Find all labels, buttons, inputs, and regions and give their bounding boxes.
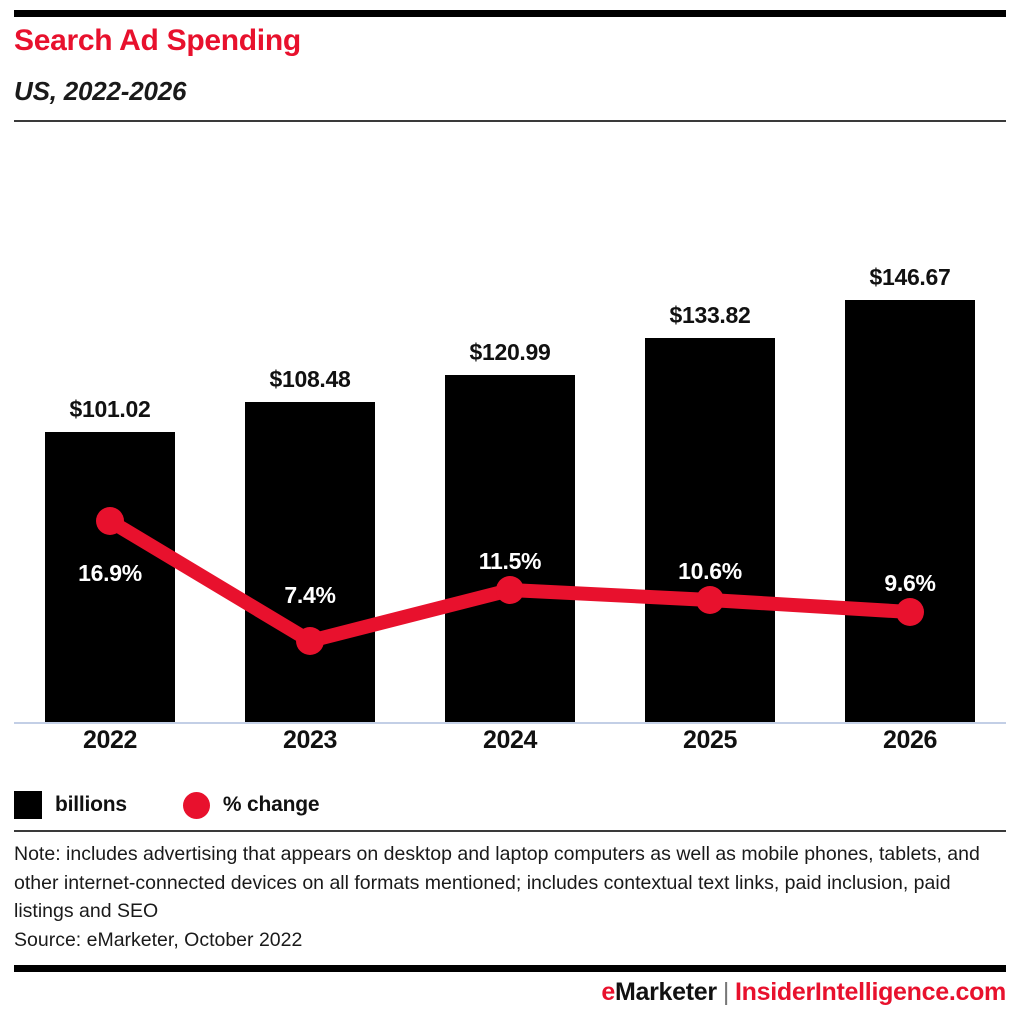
line-marker-2025	[696, 586, 724, 614]
x-tick-2026: 2026	[800, 726, 1020, 755]
bar-value-label-2023: $108.48	[200, 368, 420, 391]
legend-square-icon	[14, 791, 42, 819]
brand-e: e	[601, 978, 615, 1006]
percent-change-label-2025: 10.6%	[600, 560, 820, 583]
footer-rule	[14, 965, 1006, 972]
brand-marketer: Marketer	[615, 978, 717, 1006]
percent-change-label-2024: 11.5%	[400, 550, 620, 573]
source-text: Source: eMarketer, October 2022	[14, 926, 982, 955]
bar-value-label-2022: $101.02	[0, 398, 220, 421]
line-marker-2022	[96, 507, 124, 535]
chart-notes: Note: includes advertising that appears …	[14, 840, 982, 955]
percent-change-label-2022: 16.9%	[0, 562, 220, 585]
note-divider	[14, 830, 1006, 832]
x-tick-2025: 2025	[600, 726, 820, 755]
note-text: Note: includes advertising that appears …	[14, 843, 980, 922]
brand-site: InsiderIntelligence.com	[735, 978, 1006, 1006]
brand-logo: eMarketer|InsiderIntelligence.com	[601, 978, 1006, 1007]
bar-value-label-2026: $146.67	[800, 266, 1020, 289]
bar-value-label-2024: $120.99	[400, 341, 620, 364]
page-title: Search Ad Spending	[14, 26, 301, 56]
x-tick-2024: 2024	[400, 726, 620, 755]
legend-item-billions: billions	[14, 791, 127, 819]
x-axis-ticks: 20222023202420252026	[0, 726, 1020, 766]
header-divider	[14, 120, 1006, 122]
legend-item-change: % change	[183, 792, 319, 819]
legend-circle-icon	[183, 792, 210, 819]
chart-plot-area: $101.02$108.48$120.99$133.82$146.67 16.9…	[0, 130, 1020, 726]
page-subtitle: US, 2022-2026	[14, 78, 186, 104]
legend-label: % change	[223, 793, 319, 817]
chart-legend: billions% change	[14, 788, 319, 822]
x-tick-2022: 2022	[0, 726, 220, 755]
line-marker-2026	[896, 598, 924, 626]
percent-change-line-layer	[0, 130, 1020, 726]
percent-change-label-2023: 7.4%	[200, 584, 420, 607]
line-marker-2023	[296, 627, 324, 655]
bar-value-label-2025: $133.82	[600, 304, 820, 327]
brand-separator: |	[723, 978, 729, 1006]
infographic-page: Search Ad Spending US, 2022-2026 $101.02…	[0, 0, 1020, 1016]
line-marker-2024	[496, 576, 524, 604]
percent-change-label-2026: 9.6%	[800, 572, 1020, 595]
legend-label: billions	[55, 793, 127, 817]
x-tick-2023: 2023	[200, 726, 420, 755]
top-rule	[14, 10, 1006, 17]
